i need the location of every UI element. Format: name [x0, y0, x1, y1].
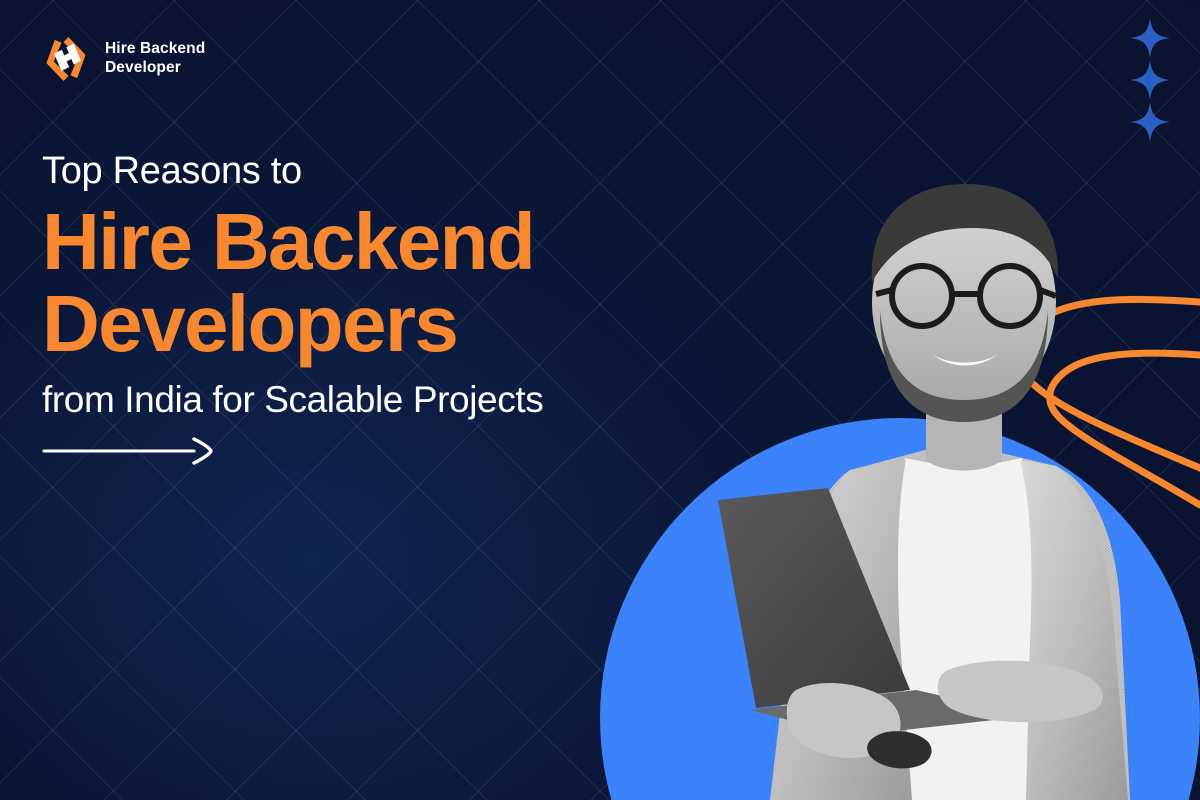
four-point-star-icon — [1130, 18, 1170, 58]
hero-eyebrow: Top Reasons to — [42, 150, 682, 193]
hexagon-bracket-h-icon — [40, 33, 92, 85]
developer-photo — [700, 170, 1200, 800]
hero-headline-line2: Developers — [42, 283, 682, 365]
hero-headline-line1: Hire Backend — [42, 197, 534, 286]
hero-copy: Top Reasons to Hire Backend Developers f… — [42, 150, 682, 471]
photo-shirt-right — [1020, 460, 1128, 800]
four-point-star-icon — [1130, 102, 1170, 142]
hero-arrow-row — [42, 436, 682, 471]
sparkle-decoration-group — [1118, 12, 1182, 142]
brand-logo[interactable]: Hire Backend Developer — [40, 33, 205, 85]
hero-banner: Hire Backend Developer Top Reasons to Hi… — [0, 0, 1200, 800]
four-point-star-icon — [1130, 60, 1170, 100]
brand-name: Hire Backend Developer — [105, 40, 205, 78]
hero-subline: from India for Scalable Projects — [42, 379, 682, 422]
long-arrow-right-icon[interactable] — [42, 436, 217, 466]
hero-headline: Hire Backend Developers — [42, 201, 682, 366]
